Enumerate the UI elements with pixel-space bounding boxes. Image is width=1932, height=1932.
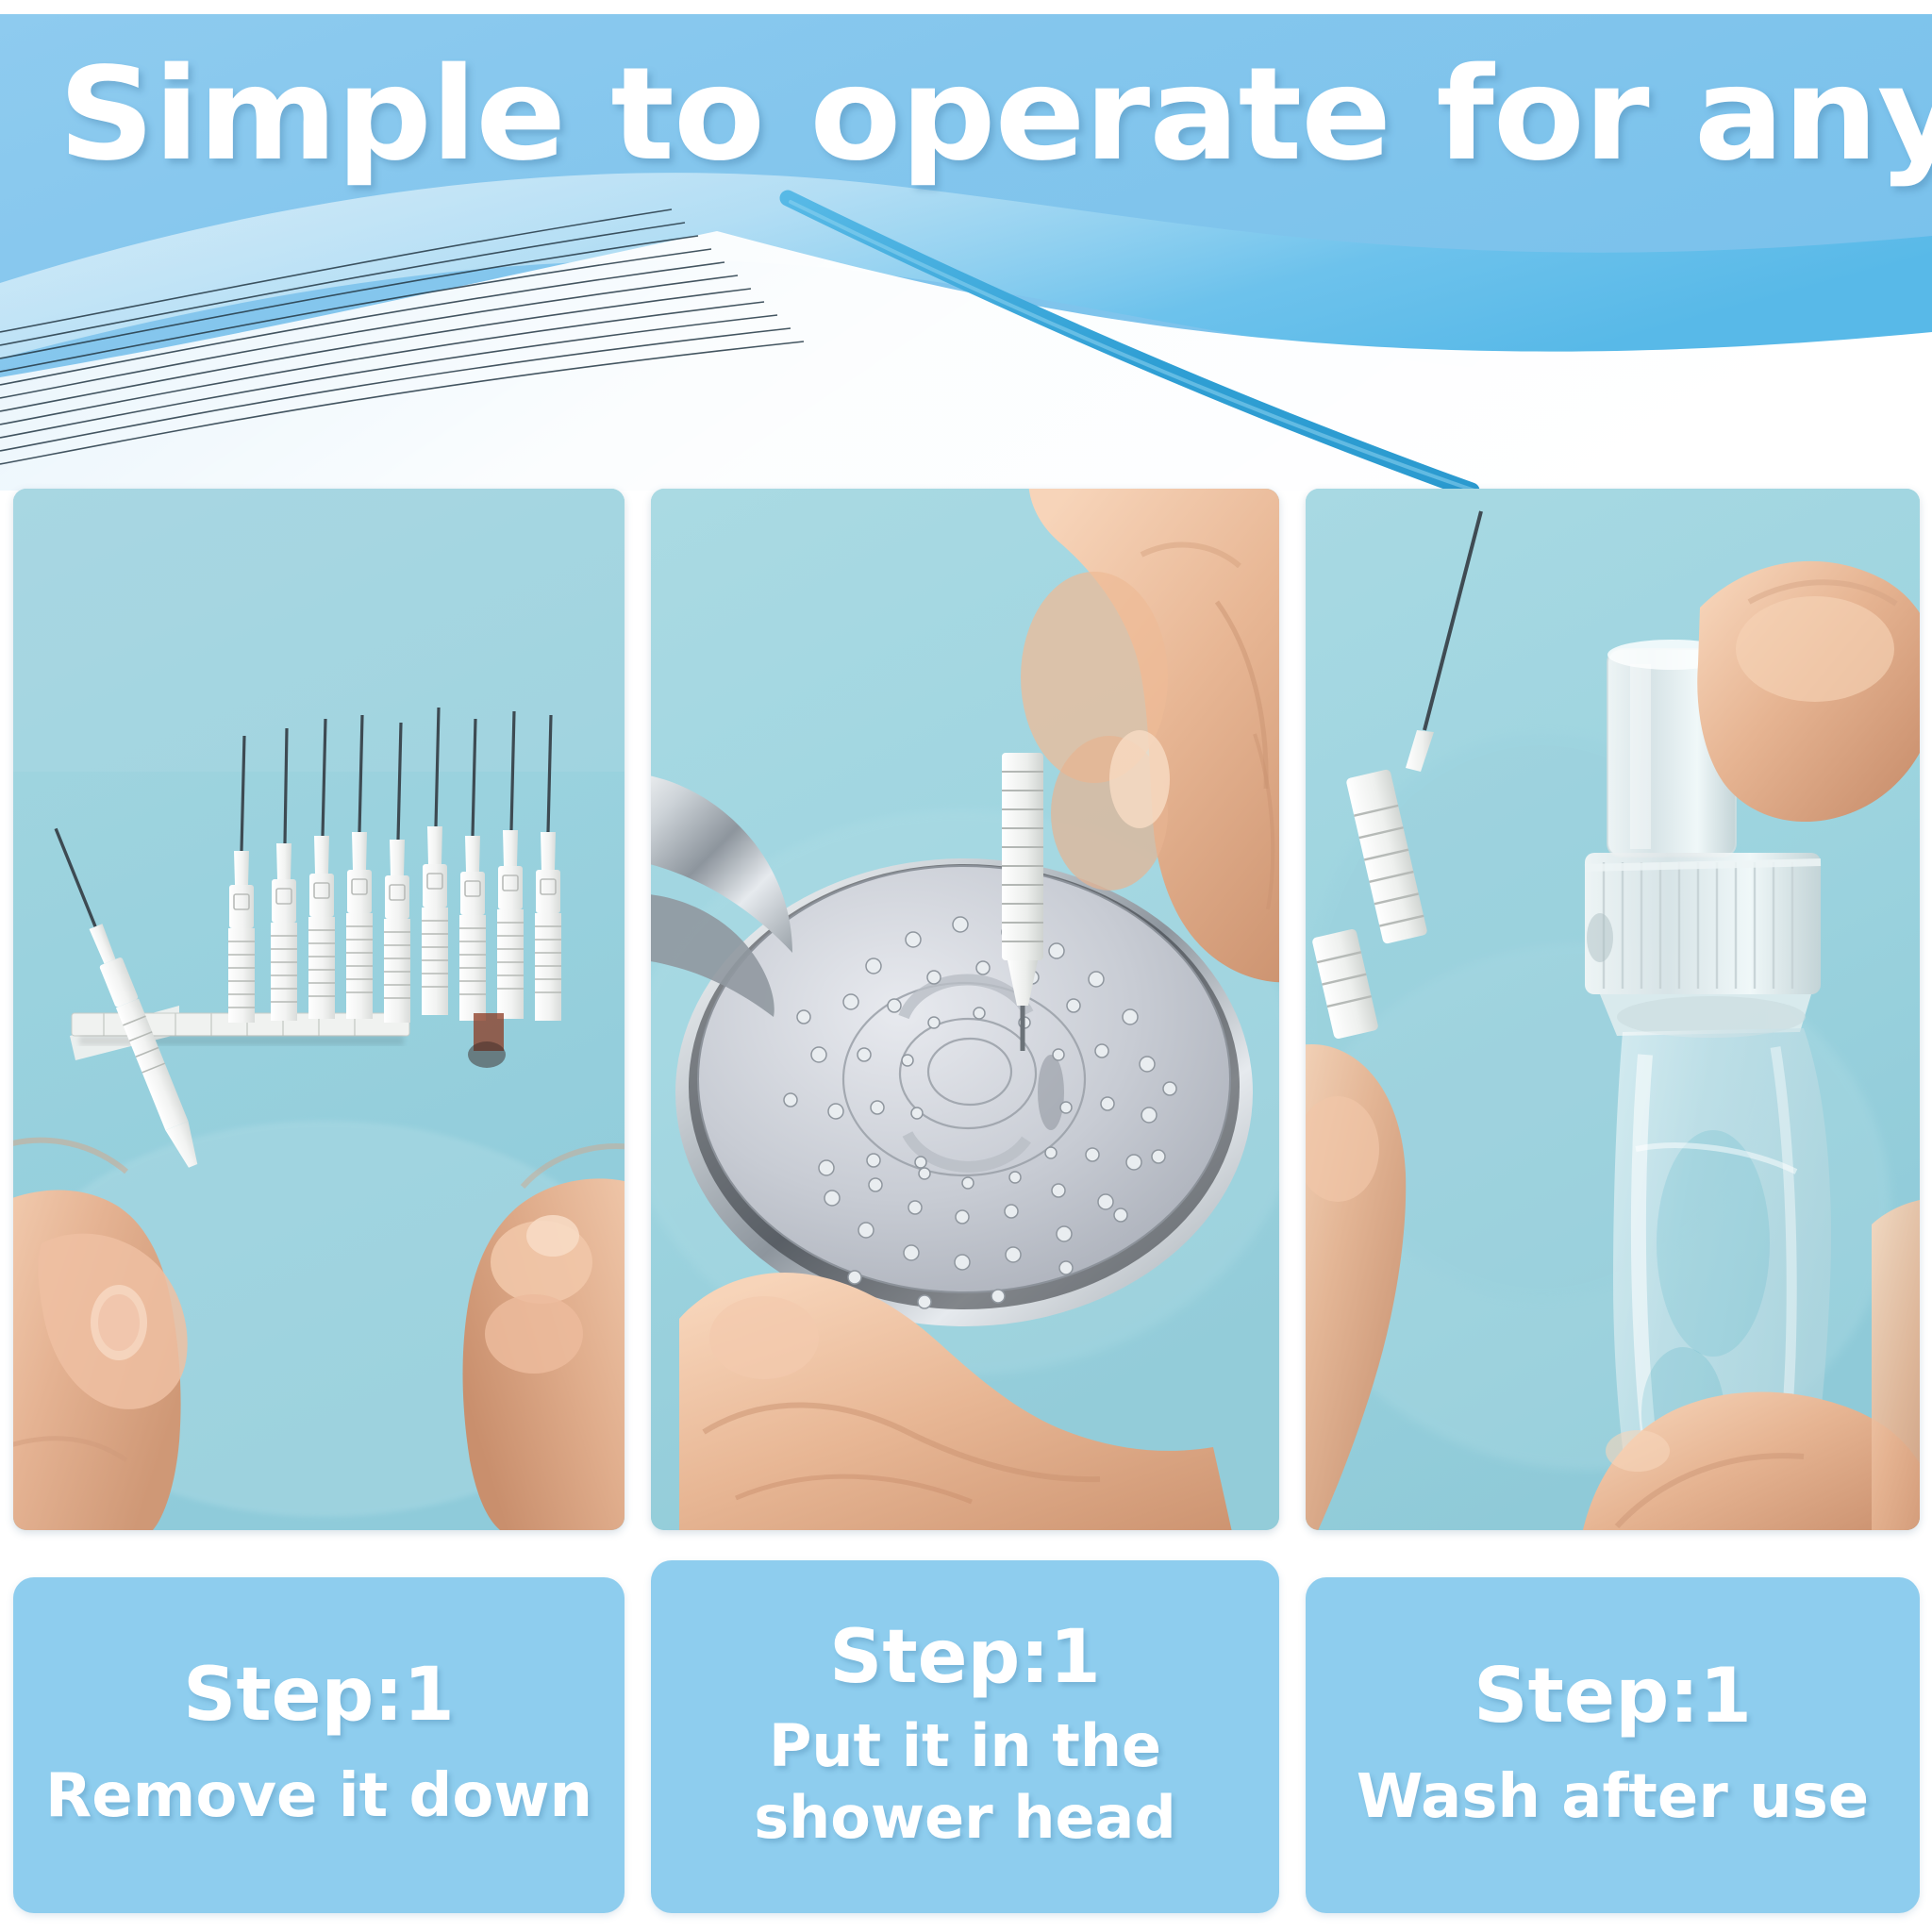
right-hand-3 [1872,1198,1920,1530]
step-description-2: Put it in the shower head [754,1710,1176,1853]
step-photo-2 [651,489,1279,1530]
header-banner: Simple to operate for any age [0,0,1932,491]
step-caption-1: Step:1 Remove it down [13,1577,625,1913]
step-photo-1 [13,489,625,1530]
step-label-2: Step:1 [829,1620,1101,1697]
spray-bottle-photo [1306,489,1920,1530]
shower-head-photo [651,489,1279,1530]
cleaning-pin-strip-photo [13,489,625,1530]
page-title: Simple to operate for any age [58,51,1932,179]
step-description-2-line2: shower head [754,1782,1176,1854]
step-label-3: Step:1 [1474,1657,1752,1736]
step-description-2-line1: Put it in the [754,1710,1176,1782]
step-photo-3 [1306,489,1920,1530]
step-label-1: Step:1 [183,1657,455,1735]
step-caption-3: Step:1 Wash after use [1306,1577,1920,1913]
step-caption-2: Step:1 Put it in the shower head [651,1560,1279,1913]
step-description-3: Wash after use [1357,1760,1869,1834]
index-finger [1697,561,1920,822]
step-description-1: Remove it down [45,1759,592,1833]
